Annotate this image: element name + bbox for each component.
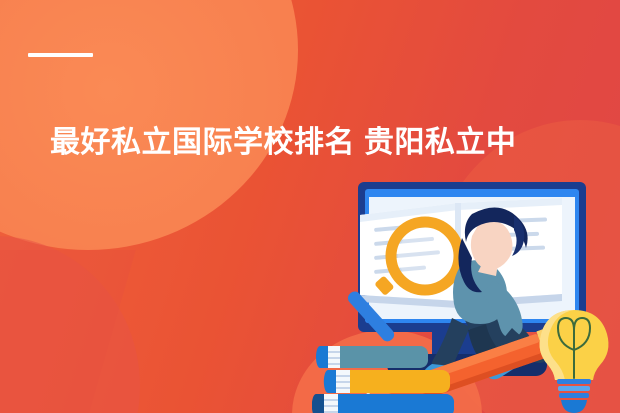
hero-banner: 最好私立国际学校排名 贵阳私立中: [0, 0, 620, 413]
hero-illustration: [312, 168, 620, 413]
bulb-base: [557, 379, 591, 413]
page-title: 最好私立国际学校排名 贵阳私立中: [50, 124, 595, 162]
title-rule-decoration: [28, 53, 93, 57]
lightbulb-icon: [540, 310, 609, 413]
background-shard-left: [0, 250, 136, 413]
